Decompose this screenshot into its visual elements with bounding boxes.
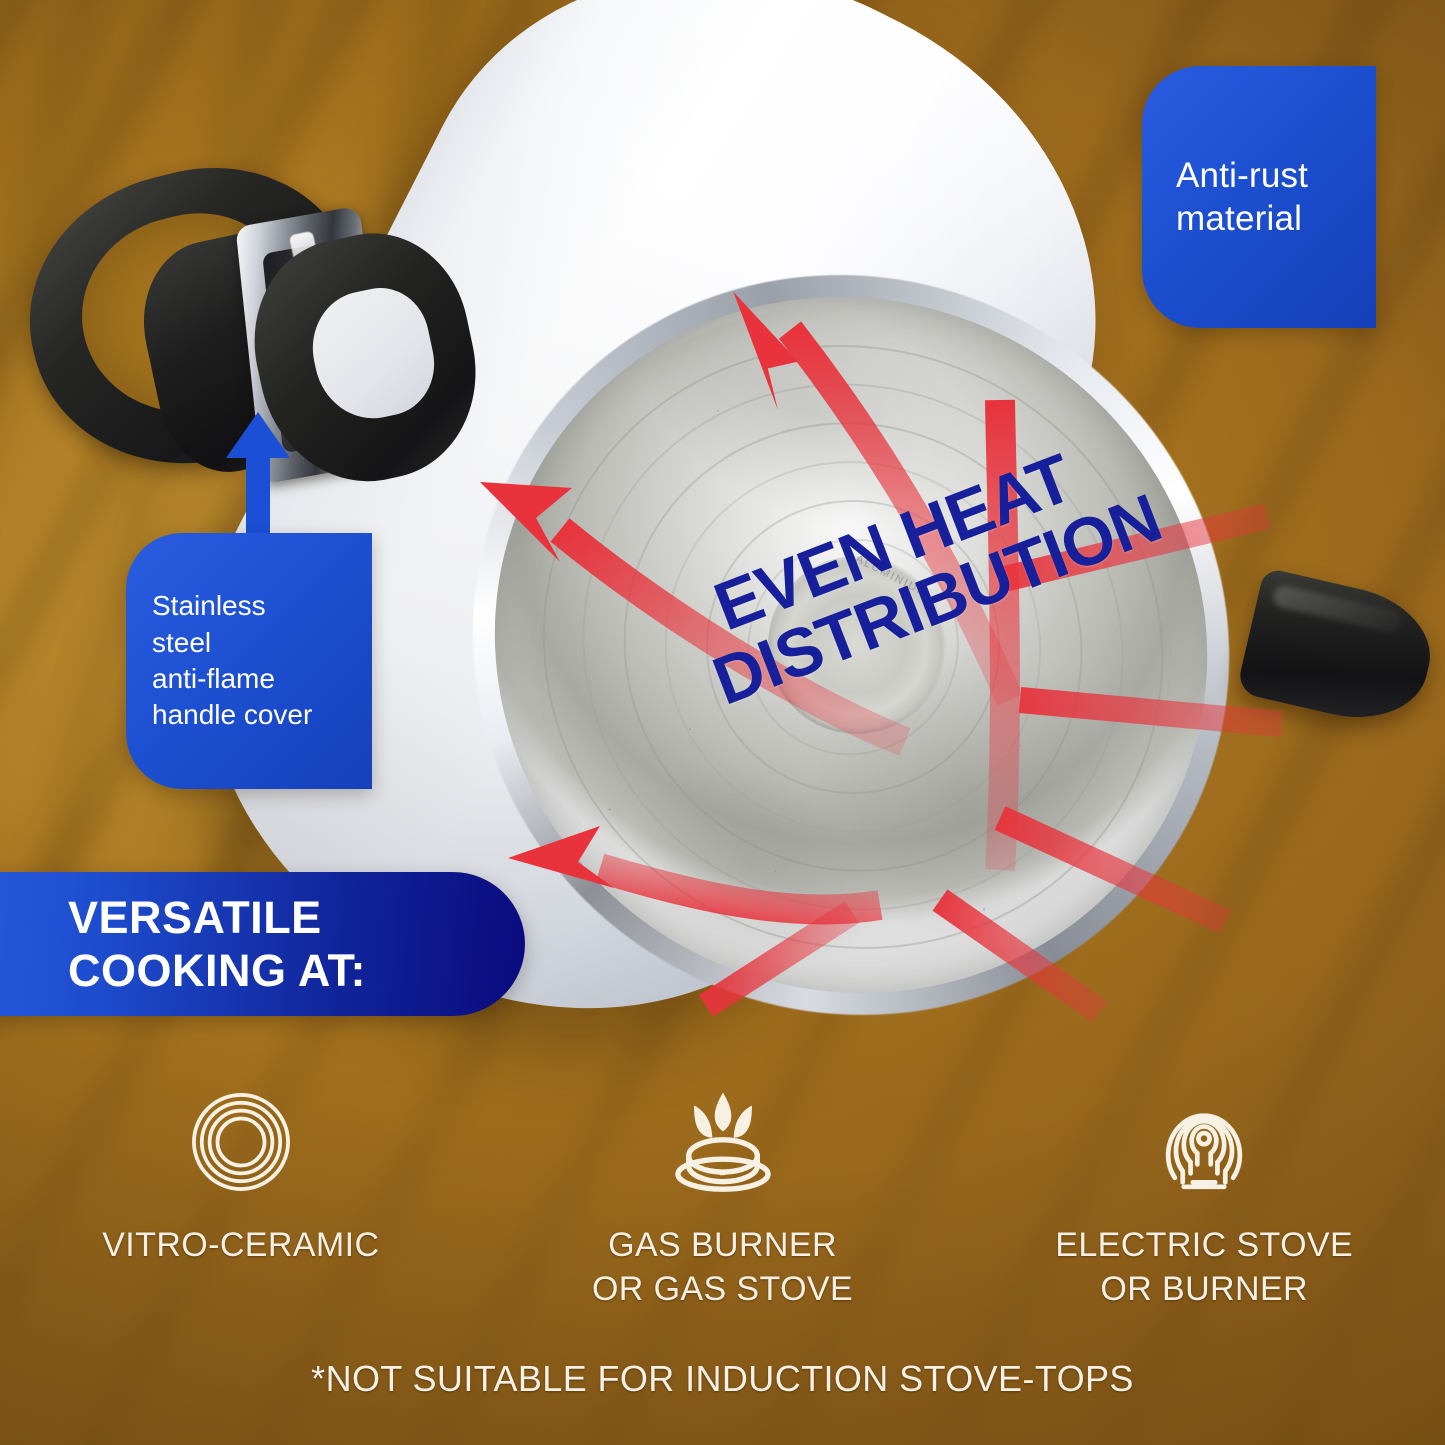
electric-stove-label-line-2: OR BURNER (1055, 1268, 1353, 1312)
gas-burner-icon (664, 1082, 782, 1202)
badge-versatile-line-2: COOKING AT: (68, 944, 366, 997)
badge-versatile-cooking[interactable]: VERSATILE COOKING AT: (0, 872, 525, 1016)
electric-stove-label-line-1: ELECTRIC STOVE (1055, 1224, 1353, 1268)
gas-burner-label-line-1: GAS BURNER (592, 1224, 853, 1268)
compatibility-label-gas-burner: GAS BURNER OR GAS STOVE (592, 1224, 853, 1311)
compatibility-item-electric-stove: ELECTRIC STOVE OR BURNER (963, 1082, 1445, 1311)
badge-versatile-text: VERSATILE COOKING AT: (68, 891, 366, 997)
badge-stainless-steel[interactable]: Stainless steel anti-flame handle cover (126, 533, 372, 789)
compatibility-label-vitro-ceramic: VITRO-CERAMIC (102, 1224, 379, 1268)
gas-burner-label-line-2: OR GAS STOVE (592, 1268, 853, 1312)
compatibility-item-gas-burner: GAS BURNER OR GAS STOVE (482, 1082, 964, 1311)
electric-stove-icon (1148, 1082, 1260, 1202)
compatibility-label-electric-stove: ELECTRIC STOVE OR BURNER (1055, 1224, 1353, 1311)
badge-stainless-line-2: steel (152, 625, 312, 661)
badge-versatile-line-1: VERSATILE (68, 891, 366, 944)
badge-anti-rust[interactable]: Anti-rust material (1142, 66, 1376, 328)
compatibility-item-vitro-ceramic: VITRO-CERAMIC (0, 1082, 482, 1268)
infographic-canvas: ALUMINIUM (0, 0, 1445, 1445)
badge-stainless-line-1: Stainless (152, 588, 312, 624)
badge-anti-rust-text: Anti-rust material (1176, 154, 1308, 241)
badge-stainless-line-3: anti-flame (152, 661, 312, 697)
vitro-ceramic-label-line-1: VITRO-CERAMIC (102, 1224, 379, 1268)
badge-stainless-steel-text: Stainless steel anti-flame handle cover (152, 588, 312, 734)
badge-anti-rust-line-1: Anti-rust (1176, 154, 1308, 197)
badge-anti-rust-line-2: material (1176, 197, 1308, 240)
compatibility-icon-row: VITRO-CERAMIC (0, 1082, 1445, 1332)
vitro-ceramic-icon (185, 1082, 297, 1202)
badge-stainless-line-4: handle cover (152, 697, 312, 733)
induction-footnote: *NOT SUITABLE FOR INDUCTION STOVE-TOPS (0, 1358, 1445, 1400)
